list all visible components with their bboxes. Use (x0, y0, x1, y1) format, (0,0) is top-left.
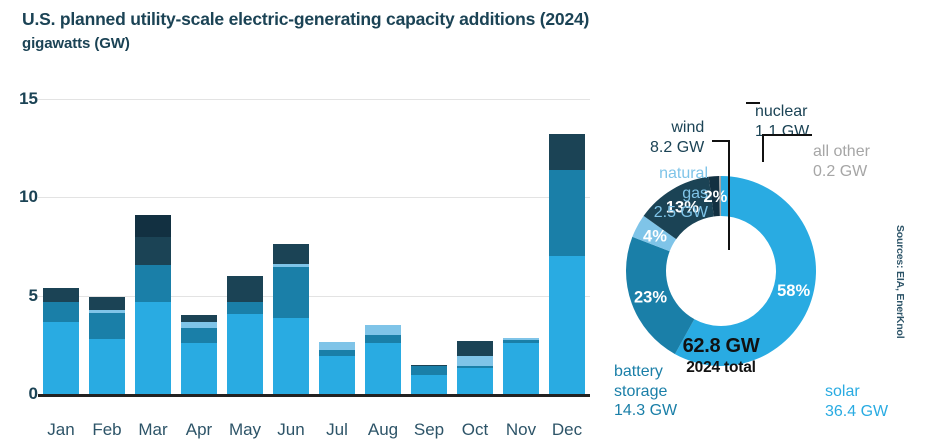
x-axis-tick-sep: Sep (403, 420, 455, 440)
donut-label-battery-storage: battery storage 14.3 GW (614, 362, 677, 421)
chart-subtitle: gigawatts (GW) (22, 34, 722, 54)
bar-segment-solar (227, 314, 263, 394)
donut-center-value: 62.8 GW (618, 335, 824, 358)
bar-segment-solar (365, 343, 401, 394)
bar-stack (411, 365, 447, 394)
bar-segment-wind (457, 341, 493, 356)
bar-segment-wind (89, 297, 125, 311)
bar-group-jan[interactable] (43, 288, 79, 394)
donut-label-natural-gas-name1: natural (610, 164, 708, 184)
bar-segment-natural-gas (457, 356, 493, 366)
bar-stack (43, 288, 79, 394)
bar-group-jul[interactable] (319, 342, 355, 394)
bar-segment-battery-storage (273, 267, 309, 318)
bar-stack (135, 215, 171, 394)
bar-segment-wind (273, 244, 309, 265)
bar-segment-battery-storage (89, 313, 125, 339)
bar-segment-solar (319, 356, 355, 394)
donut-label-wind-name: wind (650, 118, 704, 138)
bar-stack (89, 297, 125, 394)
donut-percent-battery-storage: 23% (634, 289, 667, 307)
page-title: U.S. planned utility-scale electric-gene… (22, 8, 722, 32)
bar-segment-solar (549, 256, 585, 394)
donut-label-wind-value: 8.2 GW (650, 138, 704, 158)
chart-header: U.S. planned utility-scale electric-gene… (22, 8, 722, 54)
donut-chart: 58%23%4%13%2% 62.8 GW 2024 total wind 8.… (600, 80, 934, 448)
bar-group-jun[interactable] (273, 244, 309, 394)
x-axis-tick-nov: Nov (495, 420, 547, 440)
bar-stack (227, 276, 263, 394)
leader-line-wind-horizontal (712, 140, 730, 142)
x-axis-tick-mar: Mar (127, 420, 179, 440)
bar-segment-solar (411, 375, 447, 394)
donut-label-nuclear-name: nuclear (755, 102, 809, 122)
bar-group-nov[interactable] (503, 338, 539, 394)
x-axis-tick-jun: Jun (265, 420, 317, 440)
x-axis-baseline (38, 394, 590, 397)
bar-stack (365, 325, 401, 394)
bar-segment-nuclear (135, 215, 171, 237)
bar-group-mar[interactable] (135, 215, 171, 394)
bar-chart: 051015 JanFebMarAprMayJunJulAugSepOctNov… (0, 80, 600, 448)
bar-segment-solar (135, 302, 171, 394)
bar-segment-wind (227, 276, 263, 302)
x-axis-tick-may: May (219, 420, 271, 440)
donut-label-natural-gas-name2: gas (610, 184, 708, 204)
donut-label-battery-storage-name1: battery (614, 362, 677, 382)
bar-group-may[interactable] (227, 276, 263, 394)
x-axis-tick-aug: Aug (357, 420, 409, 440)
y-axis-tick-15: 15 (0, 89, 38, 109)
bar-segment-battery-storage (227, 302, 263, 315)
donut-label-all-other-name: all other (813, 142, 870, 162)
x-axis-tick-jan: Jan (35, 420, 87, 440)
leader-line-all-other-vertical (762, 134, 764, 162)
bar-group-dec[interactable] (549, 134, 585, 394)
donut-label-solar: solar 36.4 GW (825, 382, 888, 421)
bar-segment-wind (181, 315, 217, 322)
x-axis-tick-feb: Feb (81, 420, 133, 440)
x-axis-tick-oct: Oct (449, 420, 501, 440)
bar-segment-wind (43, 288, 79, 302)
donut-label-wind: wind 8.2 GW (650, 118, 704, 157)
bar-stack (457, 341, 493, 394)
bar-stack (181, 315, 217, 394)
bar-segment-natural-gas (365, 325, 401, 335)
bar-segment-battery-storage (411, 366, 447, 376)
donut-label-battery-storage-name2: storage (614, 382, 677, 402)
donut-label-solar-value: 36.4 GW (825, 402, 888, 422)
donut-label-battery-storage-value: 14.3 GW (614, 401, 677, 421)
bar-group-sep[interactable] (411, 365, 447, 394)
bar-stack (549, 134, 585, 394)
y-axis-tick-5: 5 (0, 286, 38, 306)
source-note: Sources: EIA, EnerKnol (894, 225, 906, 338)
donut-label-natural-gas-value: 2.5 GW (610, 203, 708, 223)
bar-segment-wind (135, 237, 171, 266)
gridline-15 (38, 99, 590, 100)
bar-plot-area: JanFebMarAprMayJunJulAugSepOctNovDec (38, 95, 590, 397)
x-axis-tick-jul: Jul (311, 420, 363, 440)
x-axis-tick-dec: Dec (541, 420, 593, 440)
donut-label-natural-gas: natural gas 2.5 GW (610, 164, 708, 223)
y-axis-tick-10: 10 (0, 187, 38, 207)
bar-group-oct[interactable] (457, 341, 493, 394)
leader-line-nuclear-horizontal (746, 102, 760, 104)
bar-segment-solar (89, 339, 125, 394)
bar-group-aug[interactable] (365, 325, 401, 394)
bar-stack (319, 342, 355, 394)
bar-segment-solar (181, 343, 217, 394)
bar-segment-solar (503, 343, 539, 394)
donut-label-all-other: all other 0.2 GW (813, 142, 870, 181)
y-axis-tick-0: 0 (0, 384, 38, 404)
bar-segment-solar (43, 322, 79, 394)
leader-line-all-other-horizontal (762, 134, 812, 136)
bar-segment-battery-storage (549, 170, 585, 257)
gridline-10 (38, 197, 590, 198)
bar-segment-battery-storage (181, 328, 217, 343)
donut-percent-solar: 58% (777, 282, 810, 300)
bar-stack (273, 244, 309, 394)
bar-segment-battery-storage (135, 265, 171, 301)
bar-group-apr[interactable] (181, 315, 217, 394)
bar-segment-battery-storage (365, 335, 401, 343)
bar-group-feb[interactable] (89, 297, 125, 394)
bar-segment-solar (457, 368, 493, 394)
x-axis-tick-apr: Apr (173, 420, 225, 440)
leader-line-wind-vertical (728, 140, 730, 250)
donut-label-all-other-value: 0.2 GW (813, 162, 870, 182)
bar-segment-wind (549, 134, 585, 169)
donut-percent-natural-gas: 4% (643, 227, 667, 245)
bar-stack (503, 338, 539, 394)
bar-segment-natural-gas (319, 342, 355, 350)
donut-label-solar-name: solar (825, 382, 888, 402)
bar-segment-solar (273, 318, 309, 394)
bar-segment-battery-storage (43, 302, 79, 323)
